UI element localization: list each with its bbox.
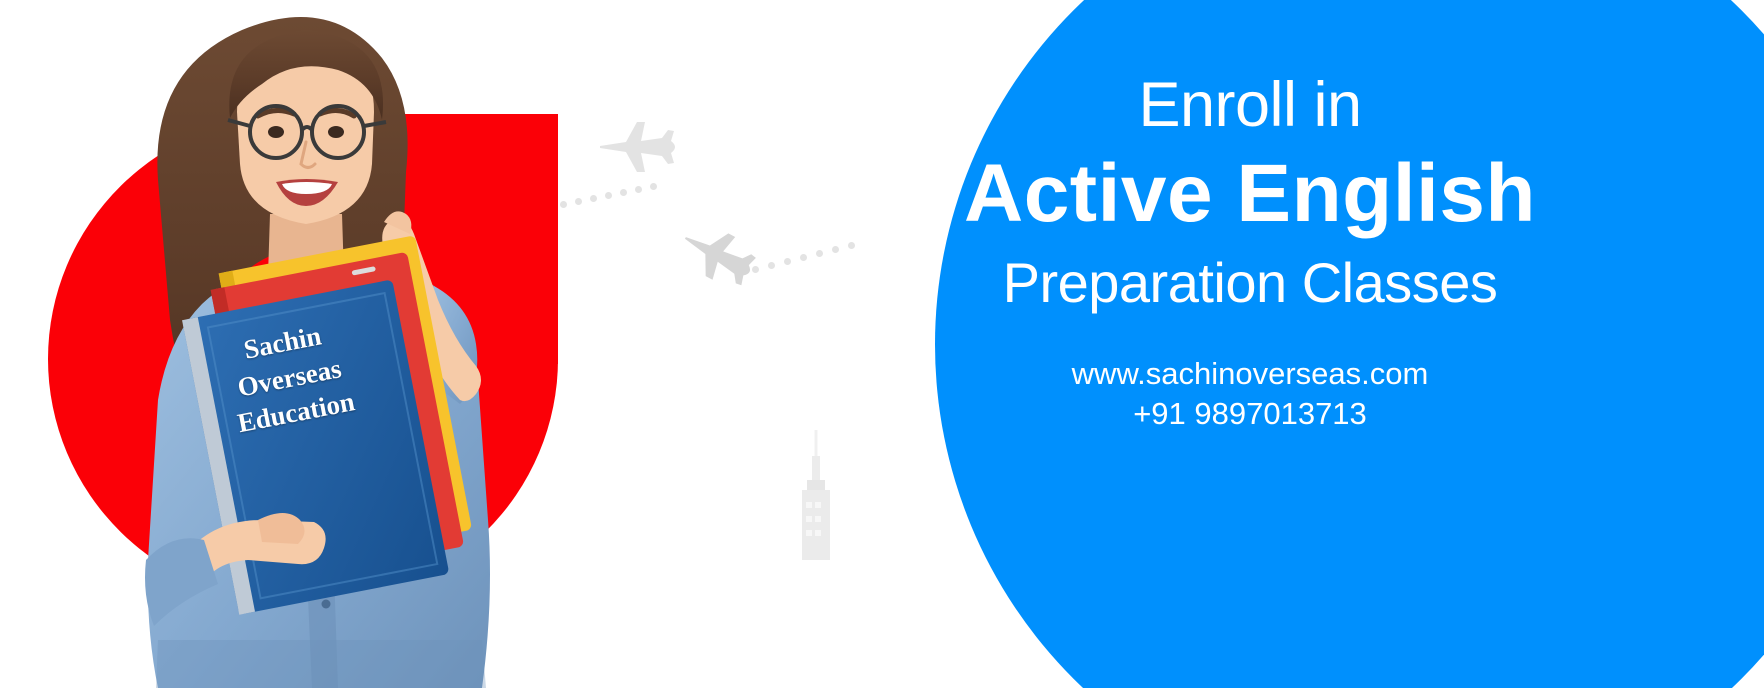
promo-subhead: Preparation Classes bbox=[930, 252, 1570, 314]
website-link[interactable]: www.sachinoverseas.com bbox=[930, 354, 1570, 395]
promo-headline: Active English bbox=[930, 148, 1570, 240]
airplane-icon bbox=[596, 116, 676, 183]
promo-banner: Sachin Overseas Education Enroll in Acti… bbox=[0, 0, 1764, 688]
airplane-icon bbox=[665, 209, 764, 303]
phone-number[interactable]: +91 9897013713 bbox=[930, 394, 1570, 435]
promo-contact-block: www.sachinoverseas.com +91 9897013713 bbox=[930, 354, 1570, 436]
student-photo bbox=[62, 0, 582, 688]
skyscraper-icon bbox=[794, 430, 838, 565]
promo-eyebrow: Enroll in bbox=[930, 72, 1570, 138]
promo-text-block: Enroll in Active English Preparation Cla… bbox=[930, 72, 1570, 435]
flight-path-dots-2 bbox=[752, 236, 882, 272]
